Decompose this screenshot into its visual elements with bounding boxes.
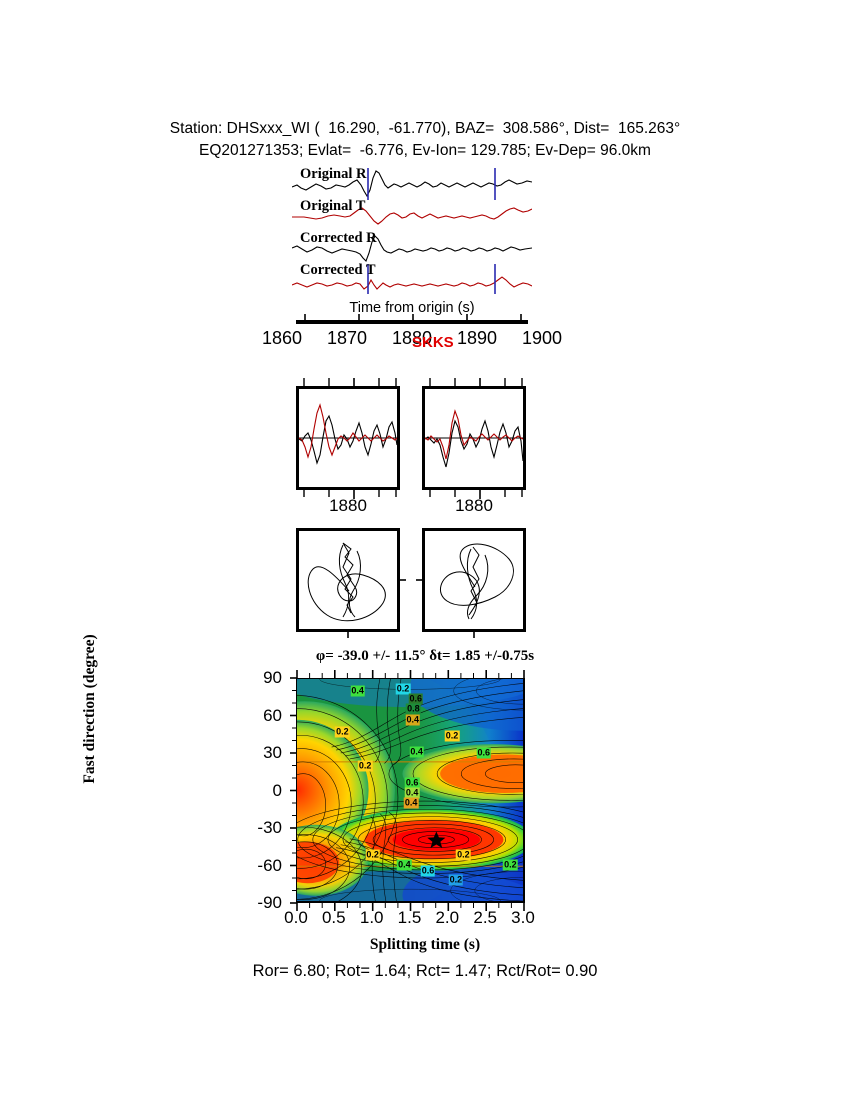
contour-label: 0.2 <box>456 849 471 860</box>
trace-label-original-r: Original R <box>300 166 366 183</box>
ytick-0: 0 <box>273 781 282 801</box>
contour-label: 0.6 <box>477 748 492 759</box>
hodogram-path-after <box>425 531 523 629</box>
contour-x-axis-label: Splitting time (s) <box>0 936 850 954</box>
contour-label: 0.8 <box>406 703 421 714</box>
ytick-90: 90 <box>263 668 282 688</box>
hodogram-before-correction <box>296 528 400 632</box>
window-caption-left: 1880 <box>296 496 400 516</box>
ytick-m30: -30 <box>257 818 282 838</box>
hodogram-path-before <box>299 531 397 629</box>
xtick-2.0: 2.0 <box>435 908 459 928</box>
time-tick-1870: 1870 <box>327 328 367 349</box>
trace-original-r: Original R <box>292 168 532 200</box>
window-traces-corrected <box>425 389 523 487</box>
time-tick-1900: 1900 <box>522 328 562 349</box>
error-surface-plot[interactable]: 0.4 0.2 0.2 0.6 0.8 0.4 0.2 0.4 0.6 0.2 … <box>296 678 525 903</box>
footer-quality-stats: Ror= 6.80; Rot= 1.64; Rct= 1.47; Rct/Rot… <box>0 962 850 981</box>
window-box-corrected <box>422 386 526 490</box>
contour-label: 0.6 <box>421 866 436 877</box>
contour-y-tick-labels: 90 60 30 0 -30 -60 -90 <box>232 678 288 903</box>
xtick-1.5: 1.5 <box>398 908 422 928</box>
contour-label: 0.4 <box>350 686 365 697</box>
trace-label-corrected-t: Corrected T <box>300 262 376 279</box>
contour-label: 0.2 <box>445 731 460 742</box>
xtick-3.0: 3.0 <box>511 908 535 928</box>
ytick-30: 30 <box>263 743 282 763</box>
contour-label: 0.2 <box>335 727 350 738</box>
trace-original-t: Original T <box>292 200 532 232</box>
contour-label: 0.4 <box>409 747 424 758</box>
waveform-panel: SKKS Original R Original T Corrected R <box>292 168 532 298</box>
figure-header: Station: DHSxxx_WI ( 16.290, -61.770), B… <box>0 118 850 162</box>
contour-label: 0.2 <box>358 760 373 771</box>
trace-label-original-t: Original T <box>300 198 365 215</box>
xtick-2.5: 2.5 <box>473 908 497 928</box>
contour-label: 0.4 <box>406 714 421 725</box>
header-station-line: Station: DHSxxx_WI ( 16.290, -61.770), B… <box>0 118 850 140</box>
time-axis-title: Time from origin (s) <box>292 300 532 316</box>
contour-label: 0.2 <box>503 859 518 870</box>
window-caption-right: 1880 <box>422 496 526 516</box>
header-event-line: EQ201271353; Evlat= -6.776, Ev-Ion= 129.… <box>0 140 850 162</box>
hodogram-panel <box>296 528 526 640</box>
time-tick-1860: 1860 <box>262 328 302 349</box>
contour-x-tick-labels: 0.0 0.5 1.0 1.5 2.0 2.5 3.0 <box>296 908 525 932</box>
xtick-0.5: 0.5 <box>322 908 346 928</box>
xtick-1.0: 1.0 <box>360 908 384 928</box>
window-box-uncorrected <box>296 386 400 490</box>
window-traces-uncorrected <box>299 389 397 487</box>
xtick-0.0: 0.0 <box>284 908 308 928</box>
ytick-m60: -60 <box>257 856 282 876</box>
time-tick-1890: 1890 <box>457 328 497 349</box>
splitting-parameters-title: φ= -39.0 +/- 11.5° δt= 1.85 +/-0.75s <box>0 648 850 665</box>
ytick-60: 60 <box>263 706 282 726</box>
ytick-m90: -90 <box>257 893 282 913</box>
contour-label: 0.4 <box>397 859 412 870</box>
trace-corrected-r: Corrected R <box>292 232 532 264</box>
contour-label: 0.2 <box>449 874 464 885</box>
trace-corrected-t: Corrected T <box>292 264 532 296</box>
phase-label-skks: SKKS <box>412 334 454 351</box>
contour-label: 0.4 <box>404 797 419 808</box>
trace-label-corrected-r: Corrected R <box>300 230 377 247</box>
hodogram-after-correction <box>422 528 526 632</box>
contour-label: 0.2 <box>365 849 380 860</box>
figure-page: Station: DHSxxx_WI ( 16.290, -61.770), B… <box>0 0 850 1100</box>
contour-y-axis-label: Fast direction (degree) <box>81 614 99 804</box>
window-waveform-panel: 1880 1880 <box>296 378 526 523</box>
